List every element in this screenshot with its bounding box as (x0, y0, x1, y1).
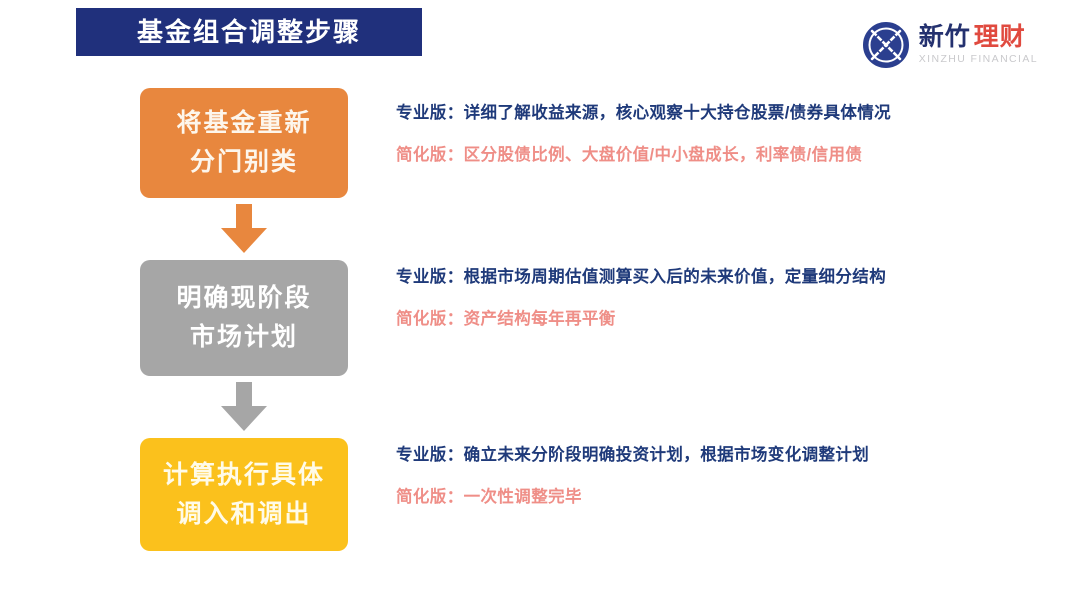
flow-step-2-line1: 明确现阶段 (176, 279, 311, 318)
brand-name-cn-secondary: 理财 (974, 25, 1026, 50)
page-title: 基金组合调整步骤 (137, 19, 361, 45)
detail-row-3-simplified: 简化版：一次性调整完毕 (396, 488, 1036, 508)
flow-step-box-3: 计算执行具体 调入和调出 (140, 438, 348, 551)
flow-arrow-2 (140, 376, 348, 438)
brand-logo: 新竹 理财 XINZHU FINANCIAL (863, 22, 1038, 68)
detail-row-2: 专业版：根据市场周期估值测算买入后的未来价值，定量细分结构 简化版：资产结构每年… (396, 268, 1036, 330)
arrow-down-icon (217, 382, 271, 432)
flow-step-2-line2: 市场计划 (190, 318, 298, 357)
detail-row-1-professional: 专业版：详细了解收益来源，核心观察十大持仓股票/债券具体情况 (396, 104, 1036, 124)
detail-row-1-simplified: 简化版：区分股债比例、大盘价值/中小盘成长，利率债/信用债 (396, 146, 1036, 166)
flow-arrow-1 (140, 198, 348, 260)
brand-wordmark: 新竹 理财 XINZHU FINANCIAL (919, 25, 1038, 65)
detail-row-2-professional: 专业版：根据市场周期估值测算买入后的未来价值，定量细分结构 (396, 268, 1036, 288)
xinzhu-circular-emblem-icon (863, 22, 909, 68)
brand-name-cn-primary: 新竹 (919, 25, 971, 50)
flow-step-box-2: 明确现阶段 市场计划 (140, 260, 348, 376)
detail-row-2-simplified: 简化版：资产结构每年再平衡 (396, 310, 1036, 330)
flow-step-1-line2: 分门别类 (190, 143, 298, 182)
detail-row-3-professional: 专业版：确立未来分阶段明确投资计划，根据市场变化调整计划 (396, 446, 1036, 466)
detail-row-3: 专业版：确立未来分阶段明确投资计划，根据市场变化调整计划 简化版：一次性调整完毕 (396, 446, 1036, 508)
flow-step-box-1: 将基金重新 分门别类 (140, 88, 348, 198)
flow-step-3-line1: 计算执行具体 (163, 456, 325, 495)
brand-name-cn: 新竹 理财 (919, 25, 1026, 50)
flow-step-1-line1: 将基金重新 (176, 104, 311, 143)
arrow-down-icon (217, 204, 271, 254)
brand-name-en: XINZHU FINANCIAL (919, 53, 1038, 65)
process-flow-column: 将基金重新 分门别类 明确现阶段 市场计划 计算执行具体 调入和调出 (140, 88, 348, 551)
page-title-bar: 基金组合调整步骤 (76, 8, 422, 56)
detail-row-1: 专业版：详细了解收益来源，核心观察十大持仓股票/债券具体情况 简化版：区分股债比… (396, 104, 1036, 166)
flow-step-3-line2: 调入和调出 (176, 495, 311, 534)
